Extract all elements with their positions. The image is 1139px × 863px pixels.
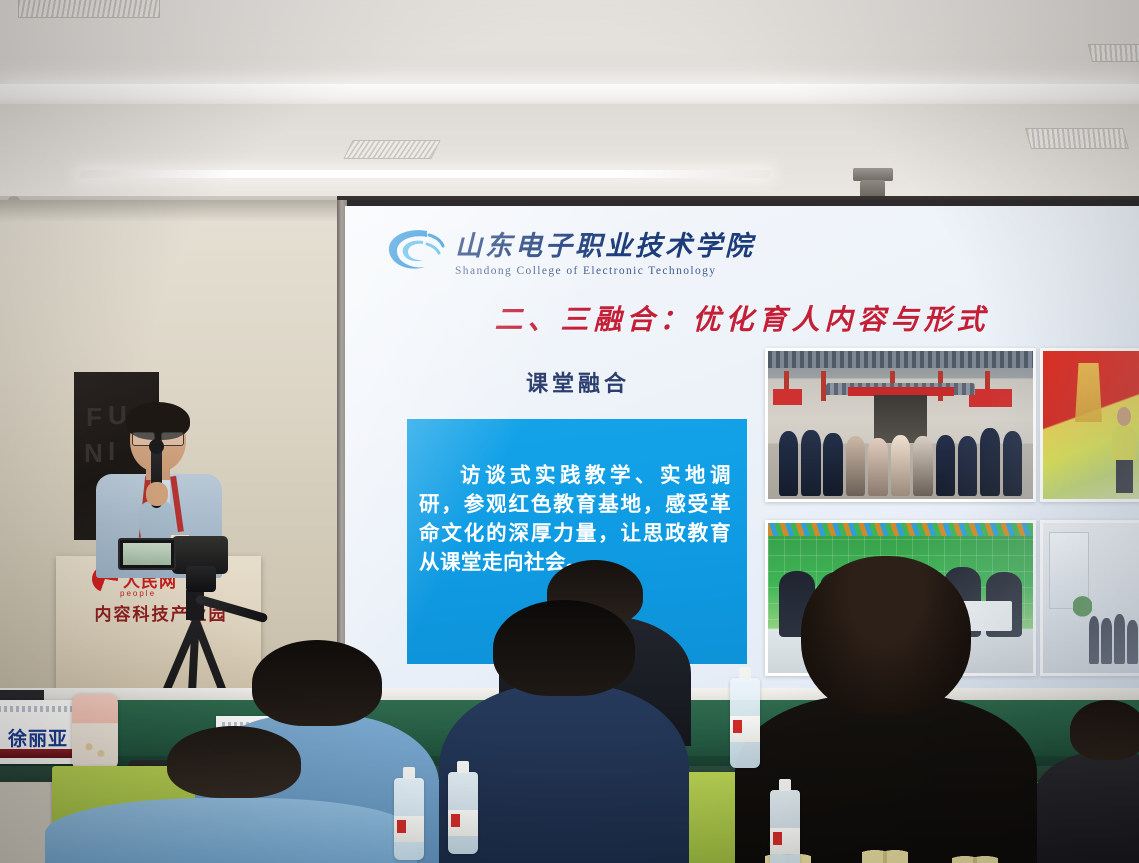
audience-member xyxy=(86,760,376,863)
institution-name-en: Shandong College of Electronic Technolog… xyxy=(455,265,755,277)
ceiling-back-panel xyxy=(0,0,1139,88)
ceiling-light-strip-2 xyxy=(79,170,772,178)
conference-room-photo: F U N I 山东电子职业技术学院 Shandong College of E… xyxy=(0,0,1139,863)
projection-screen: 山东电子职业技术学院 Shandong College of Electroni… xyxy=(345,206,1139,706)
air-vent-icon xyxy=(343,140,440,159)
audience-member-patterned-jacket xyxy=(768,556,1004,863)
ceiling-front-panel xyxy=(0,104,1139,208)
water-bottle xyxy=(770,790,800,863)
audience-member xyxy=(1048,700,1139,863)
thermos-cup xyxy=(72,694,118,770)
air-vent-icon xyxy=(1025,128,1129,149)
wall-shadow xyxy=(0,200,352,222)
water-bottle xyxy=(394,778,424,860)
camera-flip-screen xyxy=(118,538,176,570)
slide-photo-group-red-base xyxy=(765,348,1036,502)
water-bottle xyxy=(448,772,478,854)
institution-name-cn: 山东电子职业技术学院 xyxy=(455,224,755,263)
air-vent-icon xyxy=(1088,44,1139,62)
slide-subtitle: 课堂融合 xyxy=(433,366,723,398)
institution-logo: 山东电子职业技术学院 Shandong College of Electroni… xyxy=(383,224,755,277)
slide-callout-text: 访谈式实践教学、实地调研，参观红色教育基地，感受革命文化的深厚力量，让思政教育从… xyxy=(407,419,747,577)
air-vent-icon xyxy=(18,0,160,18)
slide-photo-hall-group xyxy=(1040,520,1139,676)
slide-photo-red-monument xyxy=(1040,348,1139,502)
audience-member xyxy=(466,600,662,863)
water-bottle xyxy=(730,678,760,768)
slide-title: 二、三融合：优化育人内容与形式 xyxy=(345,298,1139,338)
blue-swirl-logo-icon xyxy=(383,225,445,277)
